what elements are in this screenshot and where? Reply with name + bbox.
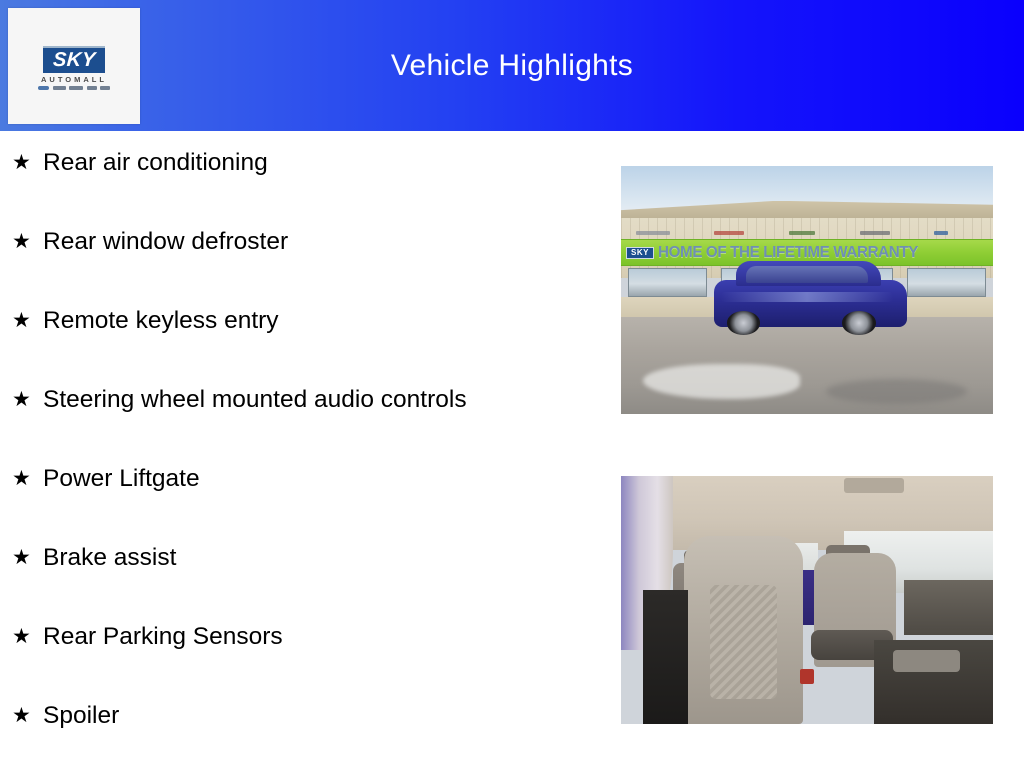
list-item-label: Remote keyless entry	[43, 305, 279, 337]
brand-sign-sky-icon	[934, 231, 948, 235]
star-icon: ★	[12, 147, 43, 179]
overhead-console-icon	[844, 478, 904, 493]
logo-brand-text: SKY	[52, 50, 96, 70]
star-icon: ★	[12, 384, 43, 416]
oem-logo-2-icon	[53, 86, 66, 90]
list-item-label: Rear window defroster	[43, 226, 288, 258]
seatbelt-buckle	[800, 669, 815, 684]
star-icon: ★	[12, 463, 43, 495]
banner-text: HOME OF THE LIFETIME WARRANTY	[658, 245, 918, 261]
vehicle-glass	[746, 266, 869, 282]
star-icon: ★	[12, 700, 43, 732]
oem-logo-4-icon	[87, 86, 97, 90]
logo-inner: SKY AUTOMALL	[38, 46, 110, 91]
list-item: ★ Steering wheel mounted audio controls	[0, 384, 614, 463]
oem-logo-5-icon	[100, 86, 110, 90]
list-item-label: Spoiler	[43, 700, 119, 732]
vehicle-front-wheel	[727, 311, 760, 335]
oem-logo-1-icon	[38, 86, 49, 90]
brand-sign-ram-icon	[860, 231, 890, 235]
star-icon: ★	[12, 305, 43, 337]
oem-brand-logos	[38, 86, 110, 90]
vehicle-rear-wheel	[842, 311, 875, 335]
building-brand-signs	[636, 227, 948, 239]
brand-sign-dodge-icon	[714, 231, 744, 235]
oem-logo-3-icon	[69, 86, 83, 90]
ground-patch-dark	[826, 379, 967, 404]
list-item-label: Rear Parking Sensors	[43, 621, 283, 653]
window-pane	[628, 268, 707, 298]
seat-quilted-panel	[710, 585, 777, 699]
content-area: ★ Rear air conditioning ★ Rear window de…	[0, 131, 1024, 768]
list-item: ★ Power Liftgate	[0, 463, 614, 542]
exterior-photo: SKY HOME OF THE LIFETIME WARRANTY	[621, 166, 993, 414]
list-item: ★ Rear window defroster	[0, 226, 614, 305]
list-item: ★ Rear air conditioning	[0, 147, 614, 226]
feature-list: ★ Rear air conditioning ★ Rear window de…	[0, 131, 614, 779]
brand-sign-chrysler-icon	[636, 231, 670, 235]
list-item-label: Power Liftgate	[43, 463, 200, 495]
slide-vehicle-highlights: SKY AUTOMALL Vehicle Highlights ★ Rear a…	[0, 0, 1024, 768]
list-item-label: Steering wheel mounted audio controls	[43, 384, 467, 416]
gear-shifter	[893, 650, 960, 672]
star-icon: ★	[12, 226, 43, 258]
list-item: ★ Brake assist	[0, 542, 614, 621]
banner-sky-badge: SKY	[626, 247, 654, 259]
door-interior-dark	[643, 590, 688, 724]
list-item: ★ Rear Parking Sensors	[0, 621, 614, 700]
list-item: ★ Spoiler	[0, 700, 614, 779]
dealer-logo: SKY AUTOMALL	[8, 8, 140, 124]
dashboard	[904, 580, 993, 635]
brand-sign-jeep-icon	[789, 231, 815, 235]
list-item: ★ Remote keyless entry	[0, 305, 614, 384]
header-banner: SKY AUTOMALL Vehicle Highlights	[0, 0, 1024, 131]
logo-tagline-text: AUTOMALL	[41, 76, 107, 84]
list-item-label: Rear air conditioning	[43, 147, 268, 179]
star-icon: ★	[12, 621, 43, 653]
vehicle-body-highlight	[721, 292, 892, 302]
star-icon: ★	[12, 542, 43, 574]
sky-badge: SKY	[43, 46, 106, 73]
window-pane	[907, 268, 986, 298]
list-item-label: Brake assist	[43, 542, 176, 574]
interior-photo	[621, 476, 993, 724]
page-title: Vehicle Highlights	[0, 0, 1024, 131]
